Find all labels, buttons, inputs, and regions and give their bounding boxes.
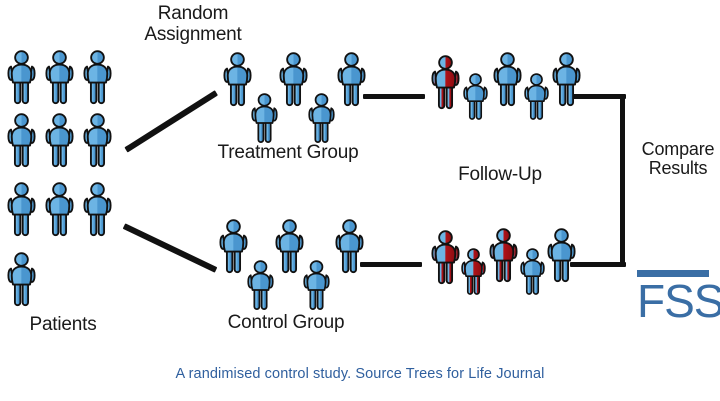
person-patients-3 xyxy=(82,50,113,102)
person-pictogram xyxy=(82,182,113,234)
person-patients-6 xyxy=(82,113,113,165)
label-random-assignment: Random Assignment xyxy=(118,4,268,45)
person-treatment-followup-4 xyxy=(523,73,550,118)
person-control-group-4 xyxy=(246,260,275,308)
person-pictogram xyxy=(6,182,37,234)
person-pictogram xyxy=(82,50,113,102)
person-patients-1 xyxy=(6,50,37,102)
person-patients-5 xyxy=(44,113,75,165)
person-control-followup-5 xyxy=(546,228,577,280)
person-treatment-group-4 xyxy=(250,93,279,141)
person-treatment-followup-5 xyxy=(551,52,582,104)
person-pictogram xyxy=(460,248,487,293)
person-pictogram xyxy=(218,219,249,271)
person-pictogram xyxy=(336,52,367,104)
person-patients-8 xyxy=(44,182,75,234)
person-treatment-followup-2 xyxy=(462,73,489,118)
person-treatment-group-3 xyxy=(336,52,367,104)
label-treatment-group: Treatment Group xyxy=(198,143,378,164)
person-pictogram xyxy=(462,73,489,118)
person-pictogram xyxy=(492,52,523,104)
connector-patients-to-control xyxy=(123,223,218,272)
person-pictogram xyxy=(307,93,336,141)
person-pictogram xyxy=(222,52,253,104)
person-pictogram xyxy=(430,230,461,282)
person-pictogram xyxy=(44,182,75,234)
person-pictogram xyxy=(488,228,519,280)
person-pictogram xyxy=(334,219,365,271)
connector-control-to-followup xyxy=(360,262,422,267)
label-control-group: Control Group xyxy=(196,313,376,334)
person-patients-10 xyxy=(6,252,37,304)
person-patients-9 xyxy=(82,182,113,234)
person-control-followup-3 xyxy=(488,228,519,280)
person-pictogram xyxy=(44,50,75,102)
person-treatment-group-1 xyxy=(222,52,253,104)
person-pictogram xyxy=(44,113,75,165)
fss-logo-text: FSS xyxy=(637,280,709,322)
person-pictogram xyxy=(551,52,582,104)
person-pictogram xyxy=(250,93,279,141)
person-pictogram xyxy=(6,252,37,304)
label-patients: Patients xyxy=(8,315,118,336)
person-control-followup-2 xyxy=(460,248,487,293)
person-control-group-3 xyxy=(334,219,365,271)
connector-bracket-bottom xyxy=(570,262,626,267)
label-follow-up: Follow-Up xyxy=(420,165,580,186)
person-treatment-group-2 xyxy=(278,52,309,104)
person-pictogram xyxy=(6,113,37,165)
diagram-canvas: Random Assignment Patients Treatment Gro… xyxy=(0,0,720,401)
person-treatment-followup-3 xyxy=(492,52,523,104)
figure-caption: A randimised control study. Source Trees… xyxy=(0,366,720,382)
person-control-group-2 xyxy=(274,219,305,271)
person-control-group-5 xyxy=(302,260,331,308)
person-pictogram xyxy=(302,260,331,308)
connector-bracket-vertical xyxy=(620,94,625,267)
person-pictogram xyxy=(546,228,577,280)
person-patients-7 xyxy=(6,182,37,234)
label-compare-results: Compare Results xyxy=(636,140,720,179)
person-control-group-1 xyxy=(218,219,249,271)
person-control-followup-1 xyxy=(430,230,461,282)
person-pictogram xyxy=(278,52,309,104)
person-pictogram xyxy=(246,260,275,308)
person-pictogram xyxy=(523,73,550,118)
fss-logo: FSS xyxy=(637,270,709,322)
person-patients-4 xyxy=(6,113,37,165)
person-control-followup-4 xyxy=(519,248,546,293)
person-treatment-group-5 xyxy=(307,93,336,141)
person-patients-2 xyxy=(44,50,75,102)
connector-treatment-to-followup xyxy=(363,94,425,99)
person-pictogram xyxy=(519,248,546,293)
person-treatment-followup-1 xyxy=(430,55,461,107)
person-pictogram xyxy=(274,219,305,271)
person-pictogram xyxy=(82,113,113,165)
person-pictogram xyxy=(6,50,37,102)
person-pictogram xyxy=(430,55,461,107)
